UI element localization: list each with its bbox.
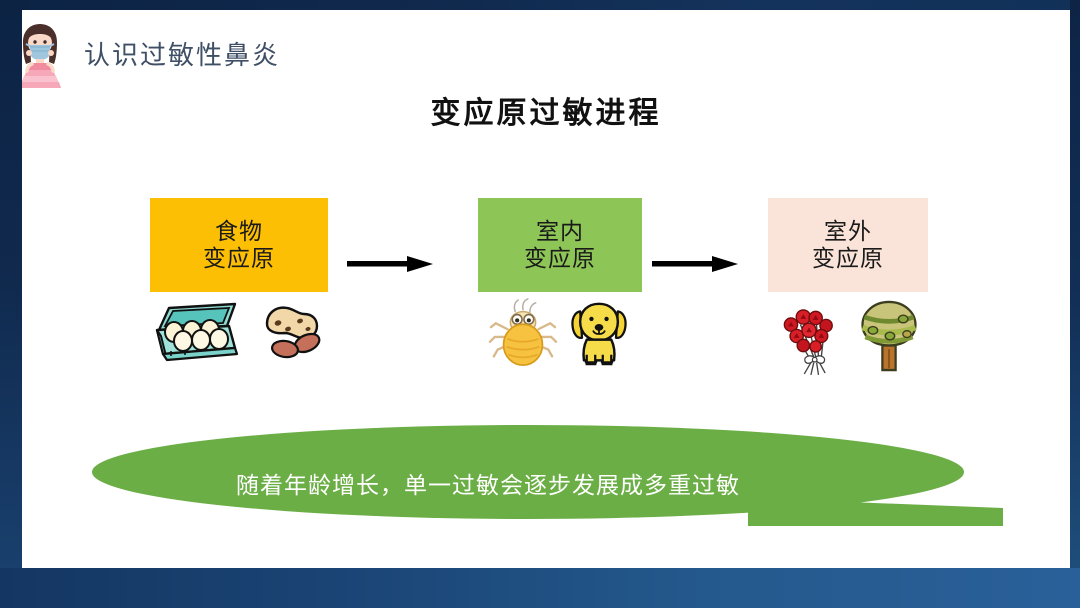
slide-canvas: 认识过敏性鼻炎 变应原过敏进程 食物 变应原 xyxy=(22,10,1070,568)
stage-food-box: 食物 变应原 xyxy=(150,198,328,292)
conclusion-banner: 随着年龄增长，单一过敏会逐步发展成多重过敏 xyxy=(88,422,1008,532)
rose-bouquet-icon xyxy=(772,296,846,376)
masked-girl-icon xyxy=(22,16,70,90)
stage-outdoor-label-line1: 室外 xyxy=(824,218,872,245)
allergen-progression-diagram: 食物 变应原 xyxy=(132,198,952,398)
frame-border-left xyxy=(0,0,22,608)
stage-outdoor-box: 室外 变应原 xyxy=(768,198,928,292)
stage-indoor-label-line1: 室内 xyxy=(536,218,584,245)
stage-indoor-illustration xyxy=(478,296,642,396)
peanut-icon xyxy=(253,296,329,368)
slide-header: 认识过敏性鼻炎 xyxy=(22,10,280,96)
stage-food-label-line1: 食物 xyxy=(215,218,263,245)
stage-outdoor-label-line2: 变应原 xyxy=(812,245,884,272)
stage-food-illustration xyxy=(150,296,328,396)
right-arrow-icon-2 xyxy=(652,254,738,274)
stage-indoor-box: 室内 变应原 xyxy=(478,198,642,292)
conclusion-banner-text: 随着年龄增长，单一过敏会逐步发展成多重过敏 xyxy=(88,466,888,500)
stage-outdoor-allergen: 室外 变应原 xyxy=(768,198,928,396)
stage-indoor-allergen: 室内 变应原 xyxy=(478,198,642,396)
stage-food-label-line2: 变应原 xyxy=(203,245,275,272)
stage-outdoor-illustration xyxy=(768,296,928,396)
page-title: 变应原过敏进程 xyxy=(22,88,1070,132)
frame-border-bottom xyxy=(0,568,1080,608)
dog-icon xyxy=(566,296,632,372)
frame-border-right xyxy=(1070,0,1080,608)
tree-icon xyxy=(854,296,924,376)
header-title: 认识过敏性鼻炎 xyxy=(84,35,280,72)
slide-frame: 认识过敏性鼻炎 变应原过敏进程 食物 变应原 xyxy=(0,0,1080,608)
right-arrow-icon xyxy=(347,254,433,274)
stage-indoor-label-line2: 变应原 xyxy=(524,245,596,272)
dust-mite-icon xyxy=(488,296,558,372)
egg-carton-icon xyxy=(149,296,245,368)
frame-border-top xyxy=(0,0,1080,10)
stage-food-allergen: 食物 变应原 xyxy=(150,198,328,396)
